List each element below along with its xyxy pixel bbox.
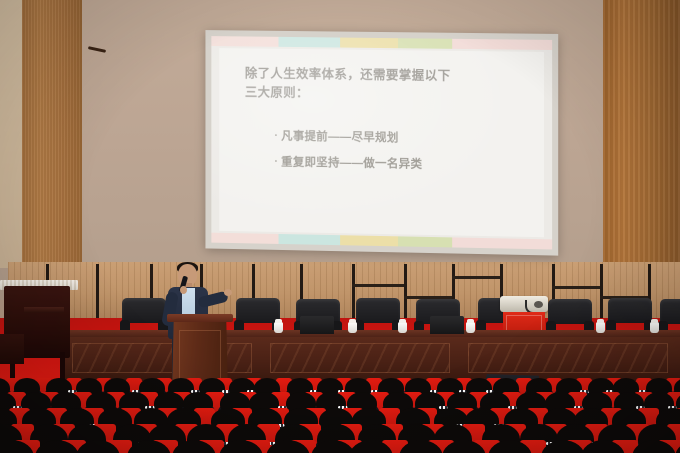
slide-bullet-list: ·凡事提前——尽早规划·重复即坚持——做一名异类 bbox=[245, 123, 528, 180]
band-teal bbox=[279, 234, 340, 245]
bullet-dot: · bbox=[275, 156, 279, 167]
panel-frame-horizontal bbox=[352, 284, 404, 287]
band-green bbox=[398, 38, 453, 49]
water-cup bbox=[596, 322, 605, 333]
conference-chair bbox=[356, 298, 400, 334]
slide-bullet: ·凡事提前——尽早规划 bbox=[275, 123, 528, 153]
bullet-dot: · bbox=[275, 130, 279, 141]
slide-heading-line-2: 三大原则： bbox=[245, 83, 528, 106]
band-pink bbox=[211, 233, 278, 244]
panel-frame-horizontal bbox=[552, 286, 600, 289]
laptop bbox=[300, 316, 334, 334]
band-pink-right bbox=[452, 39, 552, 50]
water-cup bbox=[348, 322, 357, 333]
presenter-left-hand bbox=[180, 286, 187, 294]
piano-keyboard-lid bbox=[24, 307, 64, 313]
band-yellow bbox=[340, 38, 398, 49]
band-pink bbox=[211, 36, 278, 47]
laptop bbox=[430, 316, 464, 334]
conference-chair bbox=[608, 298, 652, 334]
audience bbox=[0, 372, 680, 453]
panel-frame-vertical bbox=[600, 264, 603, 322]
screen-surface: 除了人生效率体系，还需要掌握以下 三大原则： ·凡事提前——尽早规划·重复即坚持… bbox=[211, 36, 552, 249]
panel-frame-vertical bbox=[96, 264, 99, 322]
panel-frame-vertical bbox=[352, 264, 355, 322]
projection-screen: 除了人生效率体系，还需要掌握以下 三大原则： ·凡事提前——尽早规划·重复即坚持… bbox=[205, 30, 558, 256]
band-pink-right bbox=[452, 237, 552, 249]
panel-frame-horizontal bbox=[452, 276, 500, 279]
panel-frame-vertical bbox=[404, 264, 407, 322]
bullet-text: 重复即坚持——做一名异类 bbox=[281, 156, 422, 170]
left-wall-beige-strip bbox=[0, 0, 24, 268]
lecture-hall-photo: 除了人生效率体系，还需要掌握以下 三大原则： ·凡事提前——尽早规划·重复即坚持… bbox=[0, 0, 680, 453]
band-yellow bbox=[340, 235, 398, 246]
right-wood-panel bbox=[603, 0, 680, 283]
water-cup bbox=[274, 322, 283, 333]
left-wood-panel bbox=[22, 0, 82, 268]
presenter-right-hand bbox=[224, 289, 232, 296]
table-panel bbox=[270, 343, 450, 373]
table-panel bbox=[468, 343, 668, 373]
piano-bench bbox=[0, 334, 24, 364]
bullet-text: 凡事提前——尽早规划 bbox=[281, 130, 399, 144]
water-cup bbox=[650, 322, 659, 333]
slide-bullet: ·重复即坚持——做一名异类 bbox=[275, 149, 528, 179]
water-cup bbox=[398, 322, 407, 333]
water-cup bbox=[466, 322, 475, 333]
band-teal bbox=[279, 37, 340, 48]
band-green bbox=[398, 236, 453, 247]
conference-table-top bbox=[62, 330, 680, 337]
podium-top bbox=[167, 314, 233, 322]
slide-content: 除了人生效率体系，还需要掌握以下 三大原则： ·凡事提前——尽早规划·重复即坚持… bbox=[219, 48, 544, 237]
